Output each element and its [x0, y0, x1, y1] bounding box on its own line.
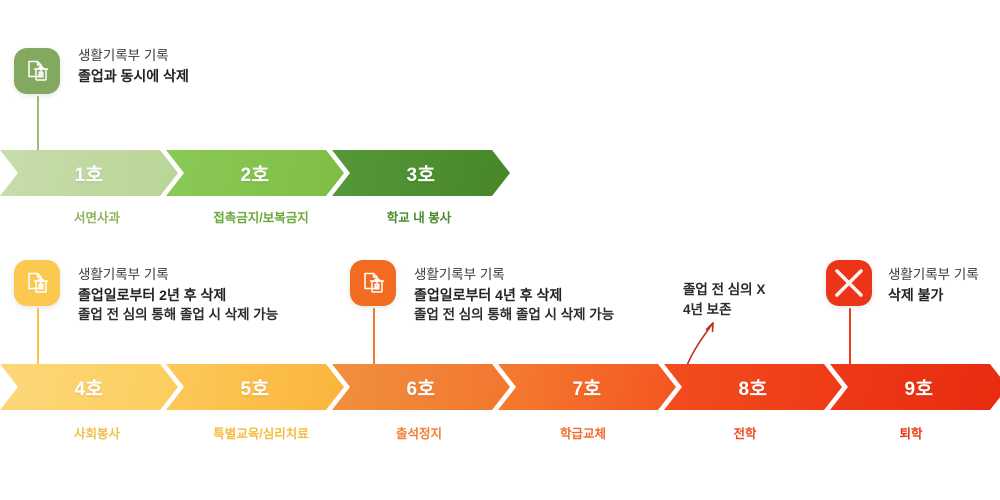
note-transfer: 졸업 전 심의 X 4년 보존 — [683, 280, 765, 319]
step-label-5: 5호 — [240, 374, 269, 401]
note-transfer-line1: 졸업 전 심의 X — [683, 280, 765, 300]
step-caption-2: 접촉금지/보복금지 — [213, 207, 308, 226]
step-caption-6: 출석정지 — [396, 423, 442, 442]
step-caption-9: 퇴학 — [899, 423, 922, 442]
note-green-line1: 생활기록부 기록 — [78, 46, 189, 66]
step-chevron-7[interactable]: 7호 — [498, 364, 676, 410]
step-chevron-2[interactable]: 2호 — [166, 150, 344, 196]
stem-orange — [373, 308, 375, 370]
document-trash-icon — [23, 269, 51, 297]
step-label-7: 7호 — [572, 374, 601, 401]
x-mark-icon — [832, 266, 866, 300]
step-label-9: 9호 — [904, 374, 933, 401]
note-green: 생활기록부 기록 졸업과 동시에 삭제 — [78, 46, 189, 86]
step-caption-5: 특별교육/심리치료 — [213, 423, 308, 442]
step-caption-1: 서면사과 — [74, 207, 120, 226]
note-red: 생활기록부 기록 삭제 불가 — [888, 265, 979, 305]
step-label-6: 6호 — [406, 374, 435, 401]
step-chevron-9[interactable]: 9호 — [830, 364, 1000, 410]
step-chevron-5[interactable]: 5호 — [166, 364, 344, 410]
step-label-3: 3호 — [406, 160, 435, 187]
step-chevron-6[interactable]: 6호 — [332, 364, 510, 410]
step-caption-3: 학교 내 봉사 — [387, 207, 451, 226]
step-chevron-4[interactable]: 4호 — [0, 364, 178, 410]
note-yellow-line2: 졸업일로부터 2년 후 삭제 — [78, 285, 278, 305]
note-red-line1: 생활기록부 기록 — [888, 265, 979, 285]
badge-green-record[interactable] — [14, 48, 60, 94]
note-yellow-line3: 졸업 전 심의 통해 졸업 시 삭제 가능 — [78, 305, 278, 325]
note-orange-line3: 졸업 전 심의 통해 졸업 시 삭제 가능 — [414, 305, 614, 325]
note-orange-line1: 생활기록부 기록 — [414, 265, 614, 285]
stem-yellow — [37, 308, 39, 370]
orange-step-row: 4호 5호 6호 7호 8호 9호 — [0, 364, 1000, 410]
step-label-2: 2호 — [240, 160, 269, 187]
note-red-line2: 삭제 불가 — [888, 285, 979, 305]
note-green-line2: 졸업과 동시에 삭제 — [78, 66, 189, 86]
note-yellow-line1: 생활기록부 기록 — [78, 265, 278, 285]
step-label-4: 4호 — [74, 374, 103, 401]
step-label-1: 1호 — [74, 160, 103, 187]
green-step-row: 1호 2호 3호 — [0, 150, 510, 196]
step-label-8: 8호 — [738, 374, 767, 401]
document-trash-icon — [23, 57, 51, 85]
infographic-canvas: 생활기록부 기록 졸업과 동시에 삭제 생활기록부 기록 졸업일로부터 2년 후… — [0, 0, 1000, 500]
note-orange: 생활기록부 기록 졸업일로부터 4년 후 삭제 졸업 전 심의 통해 졸업 시 … — [414, 265, 614, 324]
badge-orange-record[interactable] — [350, 260, 396, 306]
step-caption-7: 학급교체 — [560, 423, 606, 442]
stem-green — [37, 96, 39, 158]
step-chevron-3[interactable]: 3호 — [332, 150, 510, 196]
step-chevron-8[interactable]: 8호 — [664, 364, 842, 410]
note-orange-line2: 졸업일로부터 4년 후 삭제 — [414, 285, 614, 305]
step-caption-4: 사회봉사 — [74, 423, 120, 442]
document-trash-icon — [359, 269, 387, 297]
stem-red — [849, 308, 851, 370]
note-transfer-line2: 4년 보존 — [683, 300, 765, 320]
step-caption-8: 전학 — [733, 423, 756, 442]
badge-red-nodelete[interactable] — [826, 260, 872, 306]
step-chevron-1[interactable]: 1호 — [0, 150, 178, 196]
badge-yellow-record[interactable] — [14, 260, 60, 306]
note-yellow: 생활기록부 기록 졸업일로부터 2년 후 삭제 졸업 전 심의 통해 졸업 시 … — [78, 265, 278, 324]
